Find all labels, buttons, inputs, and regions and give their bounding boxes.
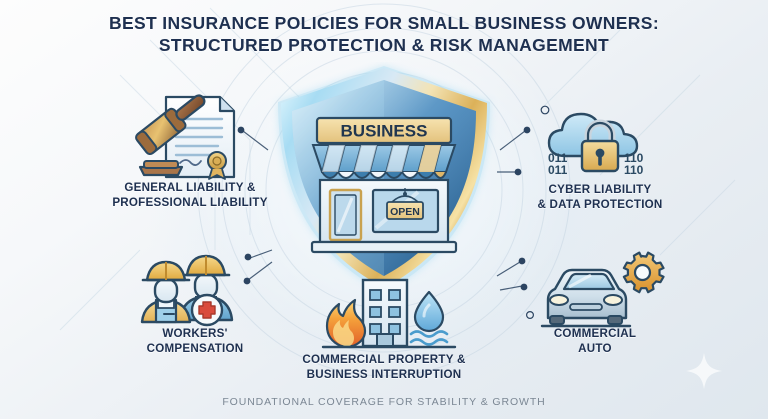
label-general-liability-line1: GENERAL LIABILITY & (124, 181, 255, 194)
workers-hardhat-icon (134, 248, 254, 328)
label-commercial-property-line2: BUSINESS INTERRUPTION (269, 368, 499, 383)
label-commercial-property-line1: COMMERCIAL PROPERTY & (302, 353, 465, 366)
label-commercial-auto-line2: AUTO (480, 342, 710, 357)
storefront-open-sign: OPEN (390, 206, 420, 218)
central-shield-graphic: BUSINESS (268, 62, 500, 298)
page-title: BEST INSURANCE POLICIES FOR SMALL BUSINE… (0, 12, 768, 56)
title-line-1: BEST INSURANCE POLICIES FOR SMALL BUSINE… (0, 12, 768, 34)
gavel-document-icon (118, 93, 242, 181)
label-cyber-liability-line1: CYBER LIABILITY (549, 183, 652, 196)
label-commercial-property: COMMERCIAL PROPERTY & BUSINESS INTERRUPT… (269, 353, 499, 383)
cloud-lock-icon: 011 011 110 110 (540, 104, 660, 182)
label-general-liability: GENERAL LIABILITY & PROFESSIONAL LIABILI… (0, 181, 380, 211)
binary-left-2: 011 (548, 163, 568, 177)
label-cyber-liability-line2: & DATA PROTECTION (450, 198, 750, 213)
label-workers-compensation-line1: WORKERS' (162, 327, 227, 340)
shield-business-label: BUSINESS (341, 122, 428, 141)
label-general-liability-line2: PROFESSIONAL LIABILITY (0, 196, 380, 211)
binary-right-2: 110 (624, 163, 644, 177)
sparkle-icon (684, 351, 724, 391)
title-line-2: STRUCTURED PROTECTION & RISK MANAGEMENT (0, 34, 768, 56)
footer-tagline: FOUNDATIONAL COVERAGE FOR STABILITY & GR… (0, 396, 768, 408)
car-gear-icon (538, 250, 660, 330)
infographic-canvas: BEST INSURANCE POLICIES FOR SMALL BUSINE… (0, 0, 768, 419)
label-commercial-auto: COMMERCIAL AUTO (480, 327, 710, 357)
label-commercial-auto-line1: COMMERCIAL (554, 327, 636, 340)
label-cyber-liability: CYBER LIABILITY & DATA PROTECTION (450, 183, 750, 213)
building-fire-water-icon (307, 276, 463, 350)
